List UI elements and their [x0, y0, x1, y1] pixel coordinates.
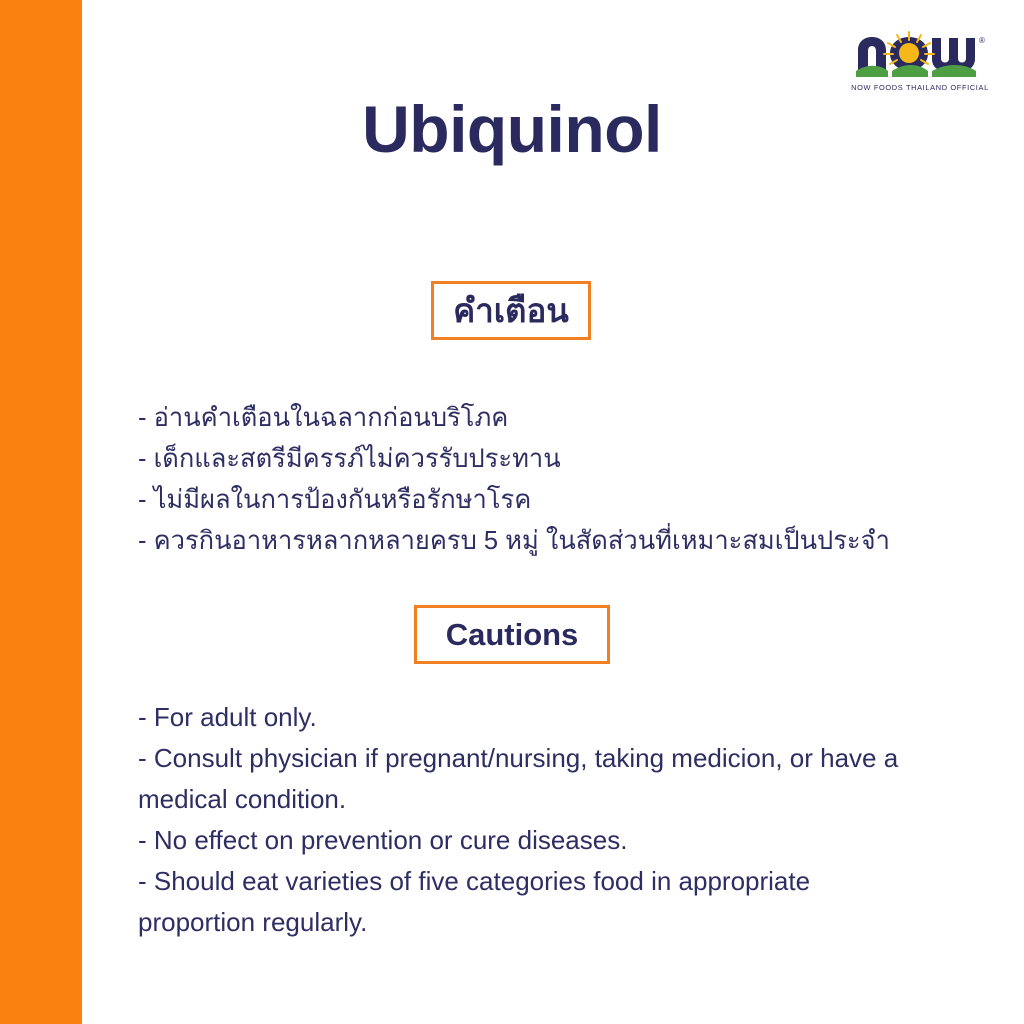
page-title: Ubiquinol — [0, 93, 1024, 166]
logo-tagline: NOW FOODS THAILAND OFFICIAL — [846, 83, 994, 92]
heading-box-warning-thai: คำเตือน — [431, 281, 591, 340]
promo-card: ® NOW FOODS THAILAND OFFICIAL Ubiquinol … — [0, 0, 1024, 1024]
list-item: - For adult only. — [138, 697, 968, 738]
list-item-continuation: medical condition. — [138, 779, 968, 820]
now-logo-icon: ® — [852, 30, 988, 80]
heading-box-cautions-english: Cautions — [414, 605, 610, 664]
brand-logo: ® NOW FOODS THAILAND OFFICIAL — [846, 30, 994, 102]
list-item: - เด็กและสตรีมีครรภ์ไม่ควรรับประทาน — [138, 439, 968, 480]
list-item-continuation: proportion regularly. — [138, 902, 968, 943]
warning-list-thai: - อ่านคำเตือนในฉลากก่อนบริโภค - เด็กและส… — [138, 398, 968, 562]
list-item: - No effect on prevention or cure diseas… — [138, 820, 968, 861]
list-item: - Should eat varieties of five categorie… — [138, 861, 968, 902]
list-item: - อ่านคำเตือนในฉลากก่อนบริโภค — [138, 398, 968, 439]
list-item: - Consult physician if pregnant/nursing,… — [138, 738, 968, 779]
list-item: - ควรกินอาหารหลากหลายครบ 5 หมู่ ในสัดส่ว… — [138, 521, 968, 562]
list-item: - ไม่มีผลในการป้องกันหรือรักษาโรค — [138, 480, 968, 521]
svg-text:®: ® — [979, 36, 985, 45]
cautions-list-english: - For adult only. - Consult physician if… — [138, 697, 968, 943]
